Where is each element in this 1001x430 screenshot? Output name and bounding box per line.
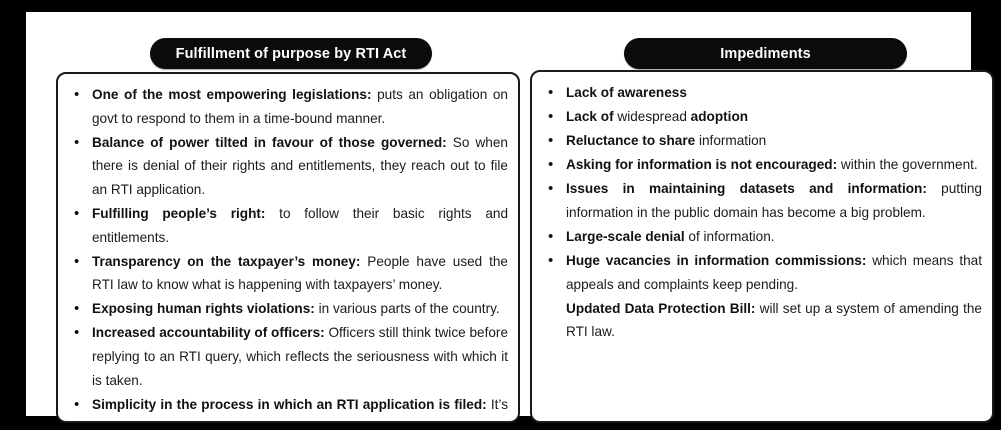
list-item-lead: Huge vacancies in information commission… [566,253,866,268]
screenshot-canvas: Fulfillment of purpose by RTI Act Impedi… [0,0,1001,430]
list-item-body: in various parts of the country. [315,301,500,316]
list-fulfillment: One of the most empowering legislations:… [58,74,518,423]
heading-pill-impediments-label: Impediments [720,46,811,62]
list-item: Exposing human rights violations: in var… [66,297,508,321]
list-item-lead: Exposing human rights violations: [92,301,315,316]
list-item-lead: Reluctance to share [566,133,695,148]
list-item-lead: Updated Data Protection Bill: [566,301,755,316]
list-item-lead: Lack of awareness [566,85,687,100]
list-item: Reluctance to share information [540,129,982,153]
list-item: Transparency on the taxpayer’s money: Pe… [66,250,508,297]
list-item-body: information [695,133,766,148]
list-item-body: widespread [614,109,691,124]
list-item-lead: Increased accountability of officers: [92,325,325,340]
list-item: Lack of widespread adoption [540,105,982,129]
list-item-lead: Fulfilling people’s right: [92,206,265,221]
heading-pill-impediments: Impediments [624,38,907,69]
list-item-lead: One of the most empowering legislations: [92,87,371,102]
list-item-lead: Balance of power tilted in favour of tho… [92,135,447,150]
list-item: Issues in maintaining datasets and infor… [540,177,982,224]
content-page: Fulfillment of purpose by RTI Act Impedi… [26,12,971,416]
list-impediments: Lack of awarenessLack of widespread adop… [532,72,992,344]
list-item: Asking for information is not encouraged… [540,153,982,177]
list-item-lead: Simplicity in the process in which an RT… [92,397,487,412]
list-item-lead: Asking for information is not encouraged… [566,157,837,172]
list-item: Huge vacancies in information commission… [540,249,982,296]
list-item: Lack of awareness [540,81,982,105]
list-item: Large-scale denial of information. [540,225,982,249]
list-item-lead: Lack of [566,109,614,124]
list-item-lead: Issues in maintaining datasets and infor… [566,181,927,196]
panel-impediments: Lack of awarenessLack of widespread adop… [530,70,994,423]
list-item: Updated Data Protection Bill: will set u… [540,297,982,344]
list-item: Fulfilling people’s right: to follow the… [66,202,508,249]
heading-pill-fulfillment-label: Fulfillment of purpose by RTI Act [176,46,407,62]
list-item-lead: Transparency on the taxpayer’s money: [92,254,360,269]
list-item-body: of information. [685,229,775,244]
panel-fulfillment: One of the most empowering legislations:… [56,72,520,423]
list-item: One of the most empowering legislations:… [66,83,508,130]
list-item: Balance of power tilted in favour of tho… [66,131,508,202]
list-item: Simplicity in the process in which an RT… [66,393,508,423]
list-item: Increased accountability of officers: Of… [66,321,508,392]
list-item-body: within the government. [837,157,978,172]
heading-pill-fulfillment: Fulfillment of purpose by RTI Act [150,38,432,69]
list-item-tail: adoption [691,109,748,124]
list-item-lead: Large-scale denial [566,229,685,244]
